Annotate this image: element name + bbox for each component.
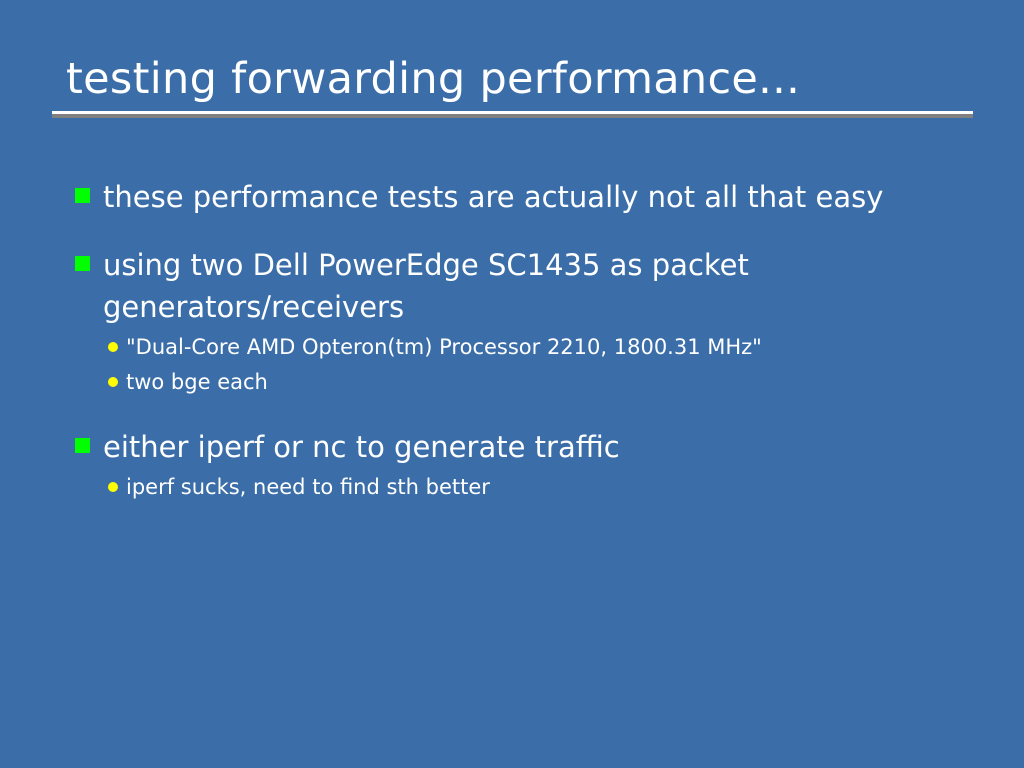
sub-bullet-list: iperf sucks, need to find sth better (75, 470, 985, 505)
bullet-level1: these performance tests are actually not… (75, 176, 985, 218)
bullet-group: either iperf or nc to generate traffic i… (75, 426, 985, 505)
bullet-level1: using two Dell PowerEdge SC1435 as packe… (75, 244, 985, 328)
bullet-level2-label: two bge each (126, 370, 268, 394)
square-bullet-icon (75, 188, 90, 203)
dot-bullet-icon (108, 377, 118, 387)
slide-title-block: testing forwarding performance... (52, 52, 973, 118)
bullet-level2: "Dual-Core AMD Opteron(tm) Processor 221… (108, 330, 985, 365)
dot-bullet-icon (108, 482, 118, 492)
square-bullet-icon (75, 256, 90, 271)
bullet-level2-label: iperf sucks, need to find sth better (126, 475, 490, 499)
bullet-level1: either iperf or nc to generate traffic (75, 426, 985, 468)
bullet-level2: two bge each (108, 365, 985, 400)
slide-title: testing forwarding performance... (52, 52, 973, 106)
bullet-level1-label: using two Dell PowerEdge SC1435 as packe… (103, 248, 749, 324)
square-bullet-icon (75, 438, 90, 453)
title-divider-shadow (52, 114, 973, 118)
slide-body: these performance tests are actually not… (75, 176, 985, 505)
dot-bullet-icon (108, 342, 118, 352)
bullet-level1-label: these performance tests are actually not… (103, 180, 883, 214)
title-divider (52, 111, 973, 118)
bullet-group: these performance tests are actually not… (75, 176, 985, 218)
presentation-slide: testing forwarding performance... these … (0, 0, 1024, 768)
bullet-group: using two Dell PowerEdge SC1435 as packe… (75, 244, 985, 400)
bullet-level2: iperf sucks, need to find sth better (108, 470, 985, 505)
bullet-level2-label: "Dual-Core AMD Opteron(tm) Processor 221… (126, 335, 762, 359)
sub-bullet-list: "Dual-Core AMD Opteron(tm) Processor 221… (75, 330, 985, 400)
bullet-level1-label: either iperf or nc to generate traffic (103, 430, 620, 464)
